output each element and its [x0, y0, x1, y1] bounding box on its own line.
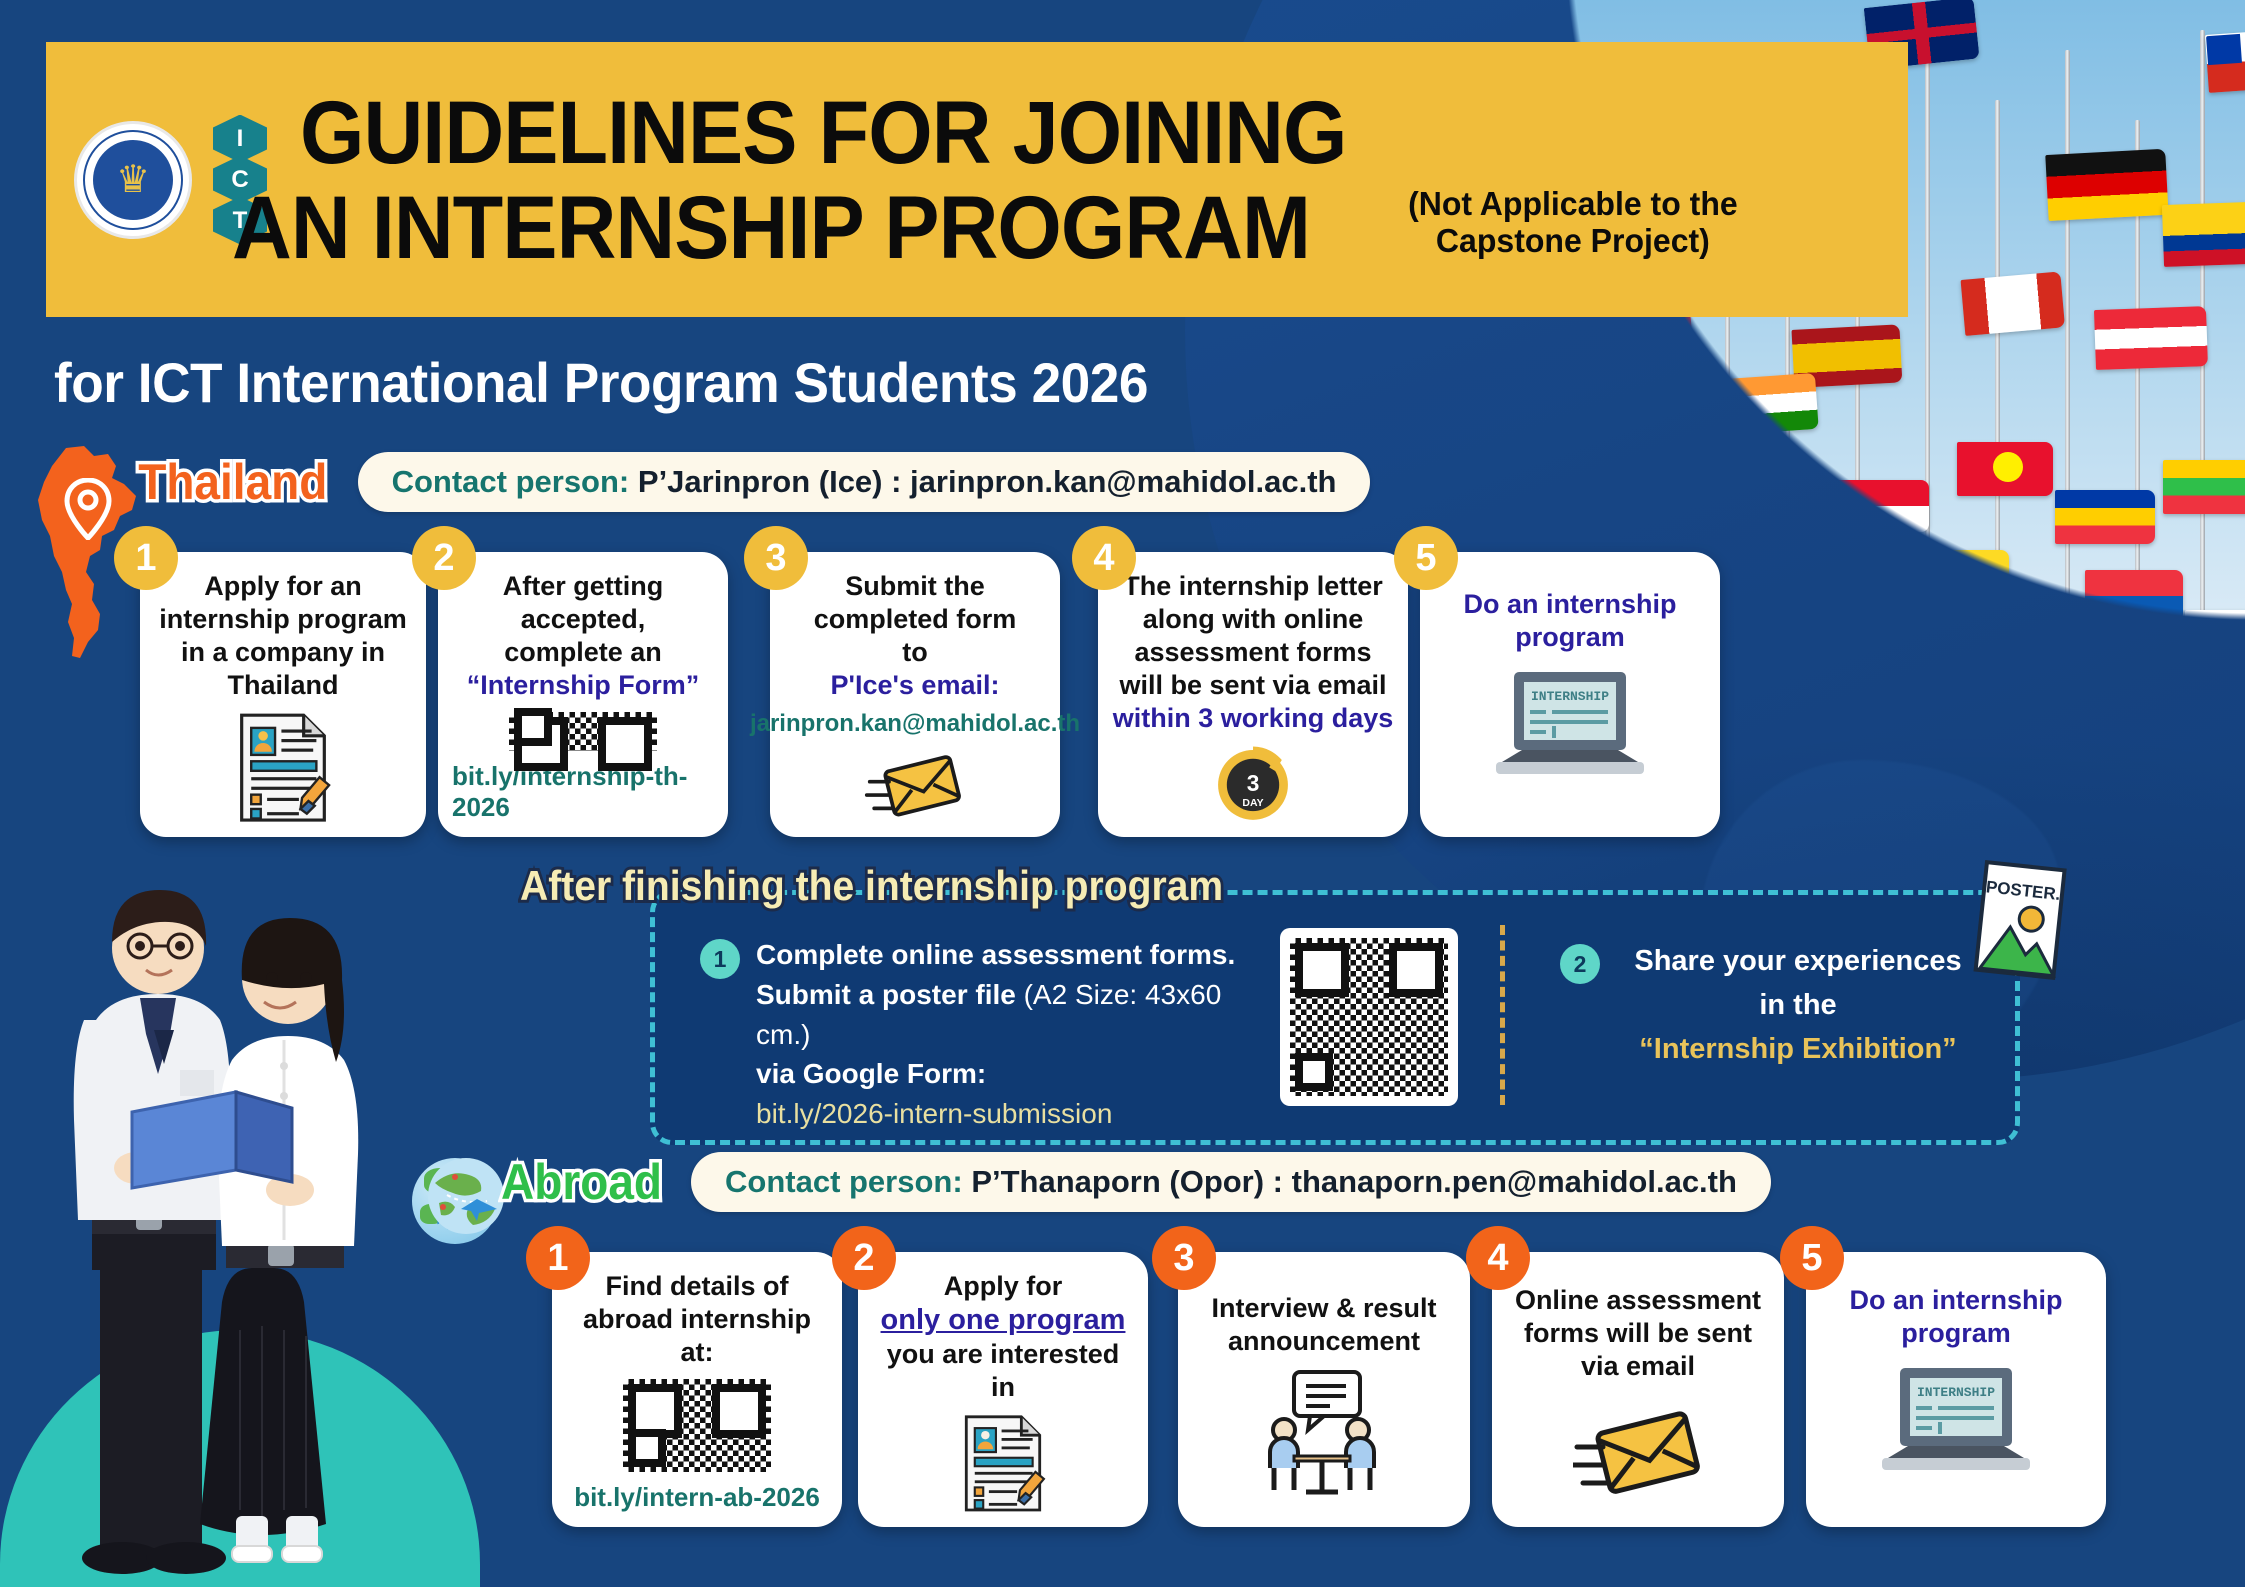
thailand-step-3-email: jarinpron.kan@mahidol.ac.th [750, 710, 1080, 738]
panel-vertical-divider [1500, 925, 1505, 1105]
after-item-1-link[interactable]: bit.ly/2026-intern-submission [756, 1094, 1260, 1134]
thailand-step-4-text: The internship letter along with online … [1119, 570, 1386, 702]
internship-form-qr-icon[interactable] [509, 712, 657, 751]
abroad-contact-label: Contact person: [725, 1164, 963, 1199]
flying-envelope-icon [1573, 1407, 1703, 1503]
thailand-contact-value: P’Jarinpron (Ice) : jarinpron.kan@mahido… [638, 464, 1337, 499]
abroad-step-4-text: Online assessment forms will be sent via… [1515, 1284, 1761, 1383]
after-item-2-number: 2 [1560, 944, 1600, 984]
after-item-2-line-2: in the [1616, 984, 1980, 1028]
svg-text:DAY: DAY [1242, 798, 1263, 809]
abroad-step-1-card[interactable]: 1 Find details of abroad internship at: … [552, 1252, 842, 1527]
after-item-1-line-1: Complete online assessment forms. [756, 935, 1260, 975]
three-day-clock-icon: 3 DAY [1207, 743, 1299, 823]
title-block: GUIDELINES FOR JOINING AN INTERNSHIP PRO… [300, 88, 1908, 272]
abroad-label: Abroad [501, 1153, 662, 1211]
two-students-illustration [40, 870, 460, 1580]
svg-text:INTERNSHIP: INTERNSHIP [1531, 689, 1609, 704]
abroad-step-3-card[interactable]: 3 Interview & result announcement [1178, 1252, 1470, 1527]
thailand-step-3-card[interactable]: 3 Submit the completed form to P'Ice's e… [770, 552, 1060, 837]
thailand-label: Thailand [138, 453, 327, 511]
header-banner: ♛ I C T GUIDELINES FOR JOINING AN INTERN… [46, 42, 1908, 317]
document-pen-icon [943, 1414, 1063, 1513]
abroad-step-4-badge: 4 [1466, 1226, 1530, 1290]
thailand-step-3-text: Submit the completed form to [814, 570, 1017, 669]
abroad-step-3-badge: 3 [1152, 1226, 1216, 1290]
abroad-step-2-accent: only one program [881, 1303, 1126, 1338]
interview-icon [1254, 1368, 1394, 1498]
thailand-step-2-card[interactable]: 2 After getting accepted, complete an “I… [438, 552, 728, 837]
infographic-poster: ♛ I C T GUIDELINES FOR JOINING AN INTERN… [0, 0, 2245, 1587]
ict-letter-i: I [213, 115, 267, 163]
abroad-step-2-line-1: Apply for [944, 1270, 1063, 1303]
abroad-step-5-card[interactable]: 5 Do an internship program INTERNSHIP [1806, 1252, 2106, 1527]
thailand-contact-pill: Contact person: P’Jarinpron (Ice) : jari… [358, 452, 1371, 512]
thailand-step-4-badge: 4 [1072, 526, 1136, 590]
abroad-step-1-text: Find details of abroad internship at: [566, 1270, 828, 1369]
abroad-step-5-badge: 5 [1780, 1226, 1844, 1290]
abroad-step-2-card[interactable]: 2 Apply for only one program you are int… [858, 1252, 1148, 1527]
after-internship-title: After finishing the internship program [520, 862, 1223, 910]
after-item-1-number: 1 [700, 939, 740, 979]
thailand-step-5-card[interactable]: 5 Do an internship program INTERNSHIP [1420, 552, 1720, 837]
thailand-step-5-text: Do an internship program [1463, 588, 1676, 654]
abroad-step-2-badge: 2 [832, 1226, 896, 1290]
svg-text:3: 3 [1247, 770, 1260, 796]
thailand-step-2-qr-caption: bit.ly/internship-th-2026 [452, 761, 714, 823]
after-item-1-line-2-bold: Submit a poster file [756, 979, 1016, 1010]
abroad-step-1-badge: 1 [526, 1226, 590, 1290]
abroad-step-5-text: Do an internship program [1849, 1284, 2062, 1350]
after-internship-item-1: 1 Complete online assessment forms. Subm… [700, 935, 1260, 1134]
laptop-internship-icon: INTERNSHIP [1872, 1362, 2040, 1486]
thailand-step-3-accent: P'Ice's email: [831, 669, 1000, 702]
page-subtitle: for ICT International Program Students 2… [54, 350, 1148, 415]
abroad-contact-value: P’Thanaporn (Opor) : thanaporn.pen@mahid… [971, 1164, 1737, 1199]
after-item-1-line-3: via Google Form: [756, 1054, 1260, 1094]
abroad-step-1-qr-caption: bit.ly/intern-ab-2026 [574, 1482, 820, 1513]
poster-submission-qr-icon[interactable] [1280, 928, 1458, 1106]
thailand-step-3-badge: 3 [744, 526, 808, 590]
laptop-internship-icon: INTERNSHIP [1486, 666, 1654, 790]
abroad-section-header: Abroad Contact person: P’Thanaporn (Opor… [408, 1152, 1771, 1212]
abroad-contact-pill: Contact person: P’Thanaporn (Opor) : tha… [691, 1152, 1771, 1212]
document-pen-icon [223, 712, 343, 823]
thailand-section-header: Thailand Contact person: P’Jarinpron (Ic… [44, 452, 1370, 512]
flying-envelope-icon [850, 752, 980, 823]
thailand-step-2-badge: 2 [412, 526, 476, 590]
thailand-step-4-card[interactable]: 4 The internship letter along with onlin… [1098, 552, 1408, 837]
thailand-contact-label: Contact person: [392, 464, 630, 499]
title-note: (Not Applicable to the Capstone Project) [1408, 186, 1738, 260]
thailand-step-1-card[interactable]: 1 Apply for an internship program in a c… [140, 552, 426, 837]
abroad-step-3-text: Interview & result announcement [1211, 1292, 1436, 1358]
after-item-2-line-1: Share your experiences [1616, 940, 1980, 984]
thailand-step-2-accent: “Internship Form” [467, 669, 700, 702]
after-item-2-exhibition: “Internship Exhibition” [1616, 1028, 1980, 1072]
thailand-step-5-badge: 5 [1394, 526, 1458, 590]
mahidol-university-seal-icon: ♛ [74, 121, 192, 239]
thailand-step-4-accent: within 3 working days [1113, 702, 1394, 735]
abroad-internship-qr-icon[interactable] [623, 1379, 771, 1472]
abroad-step-4-card[interactable]: 4 Online assessment forms will be sent v… [1492, 1252, 1784, 1527]
poster-icon: POSTER. [1969, 858, 2071, 985]
svg-text:INTERNSHIP: INTERNSHIP [1917, 1385, 1995, 1400]
thailand-step-1-text: Apply for an internship program in a com… [159, 570, 407, 702]
title-line-2: AN INTERNSHIP PROGRAM [232, 183, 1310, 272]
thailand-step-2-text: After getting accepted, complete an [452, 570, 714, 669]
abroad-step-2-line-3: you are interested in [872, 1338, 1134, 1404]
title-line-1: GUIDELINES FOR JOINING [300, 88, 1795, 177]
after-internship-item-2: 2 Share your experiences in the “Interns… [1560, 940, 1980, 1071]
